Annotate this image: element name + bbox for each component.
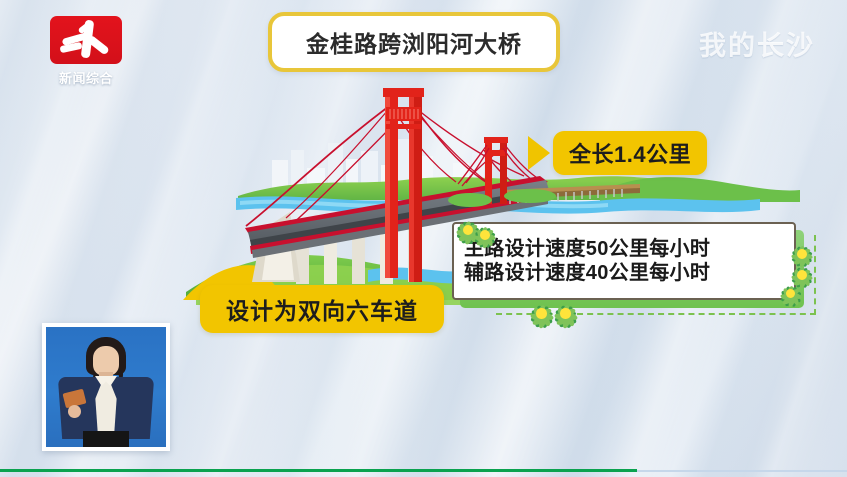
- callout-speed: 主路设计速度50公里每小时 辅路设计速度40公里每小时: [452, 222, 796, 300]
- callout-lanes: 设计为双向六车道: [200, 285, 444, 333]
- flower-icon: [472, 222, 498, 248]
- flower-icon: [552, 300, 579, 327]
- broadcast-frame: 新闻综合 我的长沙 金桂路跨浏阳河大桥 全长1.4公里 设计为双向六车道 主路设…: [0, 0, 847, 477]
- channel-name: 新闻综合: [40, 68, 132, 87]
- app-watermark: 我的长沙: [699, 24, 815, 63]
- callout-length-pill: 全长1.4公里: [553, 131, 707, 175]
- callout-speed-box: 主路设计速度50公里每小时 辅路设计速度40公里每小时: [452, 222, 796, 300]
- bottom-green-line: [0, 469, 637, 472]
- avatar: [42, 323, 170, 451]
- callout-length: 全长1.4公里: [528, 131, 707, 175]
- bottom-blue-line: [637, 470, 847, 472]
- avatar-image: [46, 327, 166, 447]
- callout-length-text: 全长1.4公里: [569, 142, 691, 167]
- callout-lanes-text: 设计为双向六车道: [226, 298, 418, 324]
- triangle-pointer-icon: [528, 136, 550, 170]
- avatar-pants: [83, 431, 129, 447]
- avatar-hand: [68, 405, 81, 418]
- callout-speed-line2: 辅路设计速度40公里每小时: [464, 261, 794, 285]
- channel-logo: 新闻综合: [40, 16, 132, 87]
- callout-speed-line1: 主路设计速度50公里每小时: [464, 237, 794, 261]
- page-title-text: 金桂路跨浏阳河大桥: [306, 31, 522, 57]
- flower-icon: [778, 281, 803, 306]
- page-title: 金桂路跨浏阳河大桥: [268, 12, 560, 72]
- flower-icon: [528, 300, 555, 327]
- channel-logo-icon: [50, 16, 122, 64]
